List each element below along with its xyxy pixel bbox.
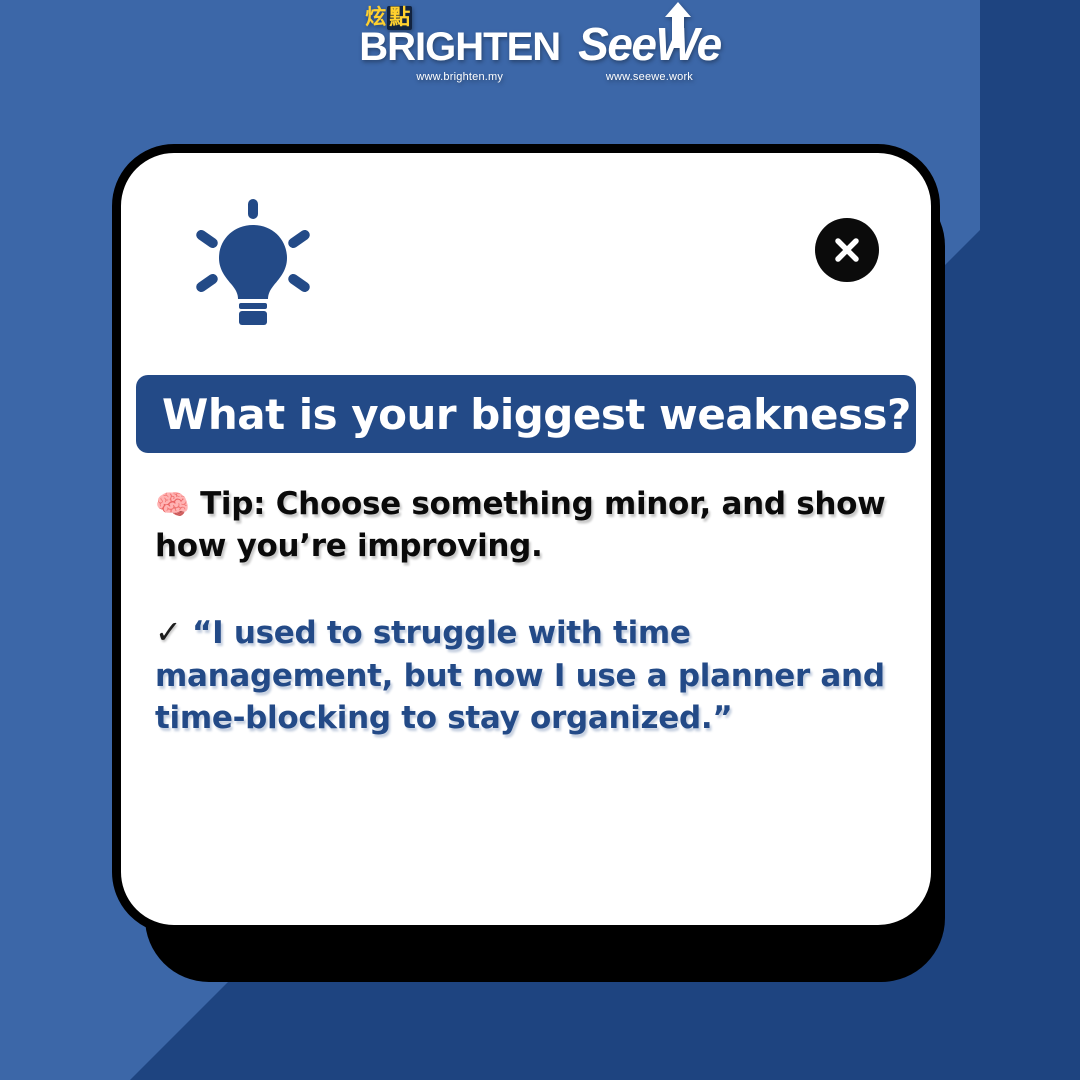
chinese-char-dian: 點 bbox=[387, 6, 412, 30]
tip-block: 🧠 Tip: Choose something minor, and show … bbox=[155, 483, 915, 567]
question-text: What is your biggest weakness? bbox=[162, 390, 911, 439]
answer-block: ✓ “I used to struggle with time manageme… bbox=[155, 611, 925, 739]
brighten-logo-group: 炫 點 BRIGHTEN www.brighten.my bbox=[359, 28, 560, 83]
arrow-up-icon bbox=[665, 2, 691, 48]
close-button[interactable] bbox=[815, 218, 879, 282]
checkmark-icon: ✓ bbox=[155, 613, 182, 651]
tip-text: Tip: Choose something minor, and show ho… bbox=[155, 486, 885, 564]
question-banner: What is your biggest weakness? bbox=[136, 375, 916, 453]
close-x-icon bbox=[831, 234, 863, 266]
tip-card: What is your biggest weakness? 🧠 Tip: Ch… bbox=[112, 144, 940, 934]
answer-line: ✓ “I used to struggle with time manageme… bbox=[155, 611, 925, 739]
chinese-brand-mark: 炫 點 bbox=[365, 6, 412, 30]
seewe-wordmark: SeeWe bbox=[578, 22, 721, 67]
chinese-char-xuan: 炫 bbox=[365, 7, 386, 28]
brighten-url: www.brighten.my bbox=[416, 71, 503, 83]
lightbulb-icon bbox=[195, 199, 311, 325]
tip-line: 🧠 Tip: Choose something minor, and show … bbox=[155, 483, 915, 567]
seewe-logo-group: SeeWe www.seewe.work bbox=[578, 22, 721, 83]
answer-text: “I used to struggle with time management… bbox=[155, 615, 885, 736]
seewe-url: www.seewe.work bbox=[606, 71, 693, 83]
poster-canvas: 炫 點 BRIGHTEN www.brighten.my SeeWe www.s… bbox=[0, 0, 1080, 1080]
brand-logo: 炫 點 BRIGHTEN www.brighten.my SeeWe www.s… bbox=[0, 22, 1080, 107]
brighten-wordmark: BRIGHTEN bbox=[359, 28, 560, 67]
brain-emoji: 🧠 bbox=[155, 488, 190, 521]
